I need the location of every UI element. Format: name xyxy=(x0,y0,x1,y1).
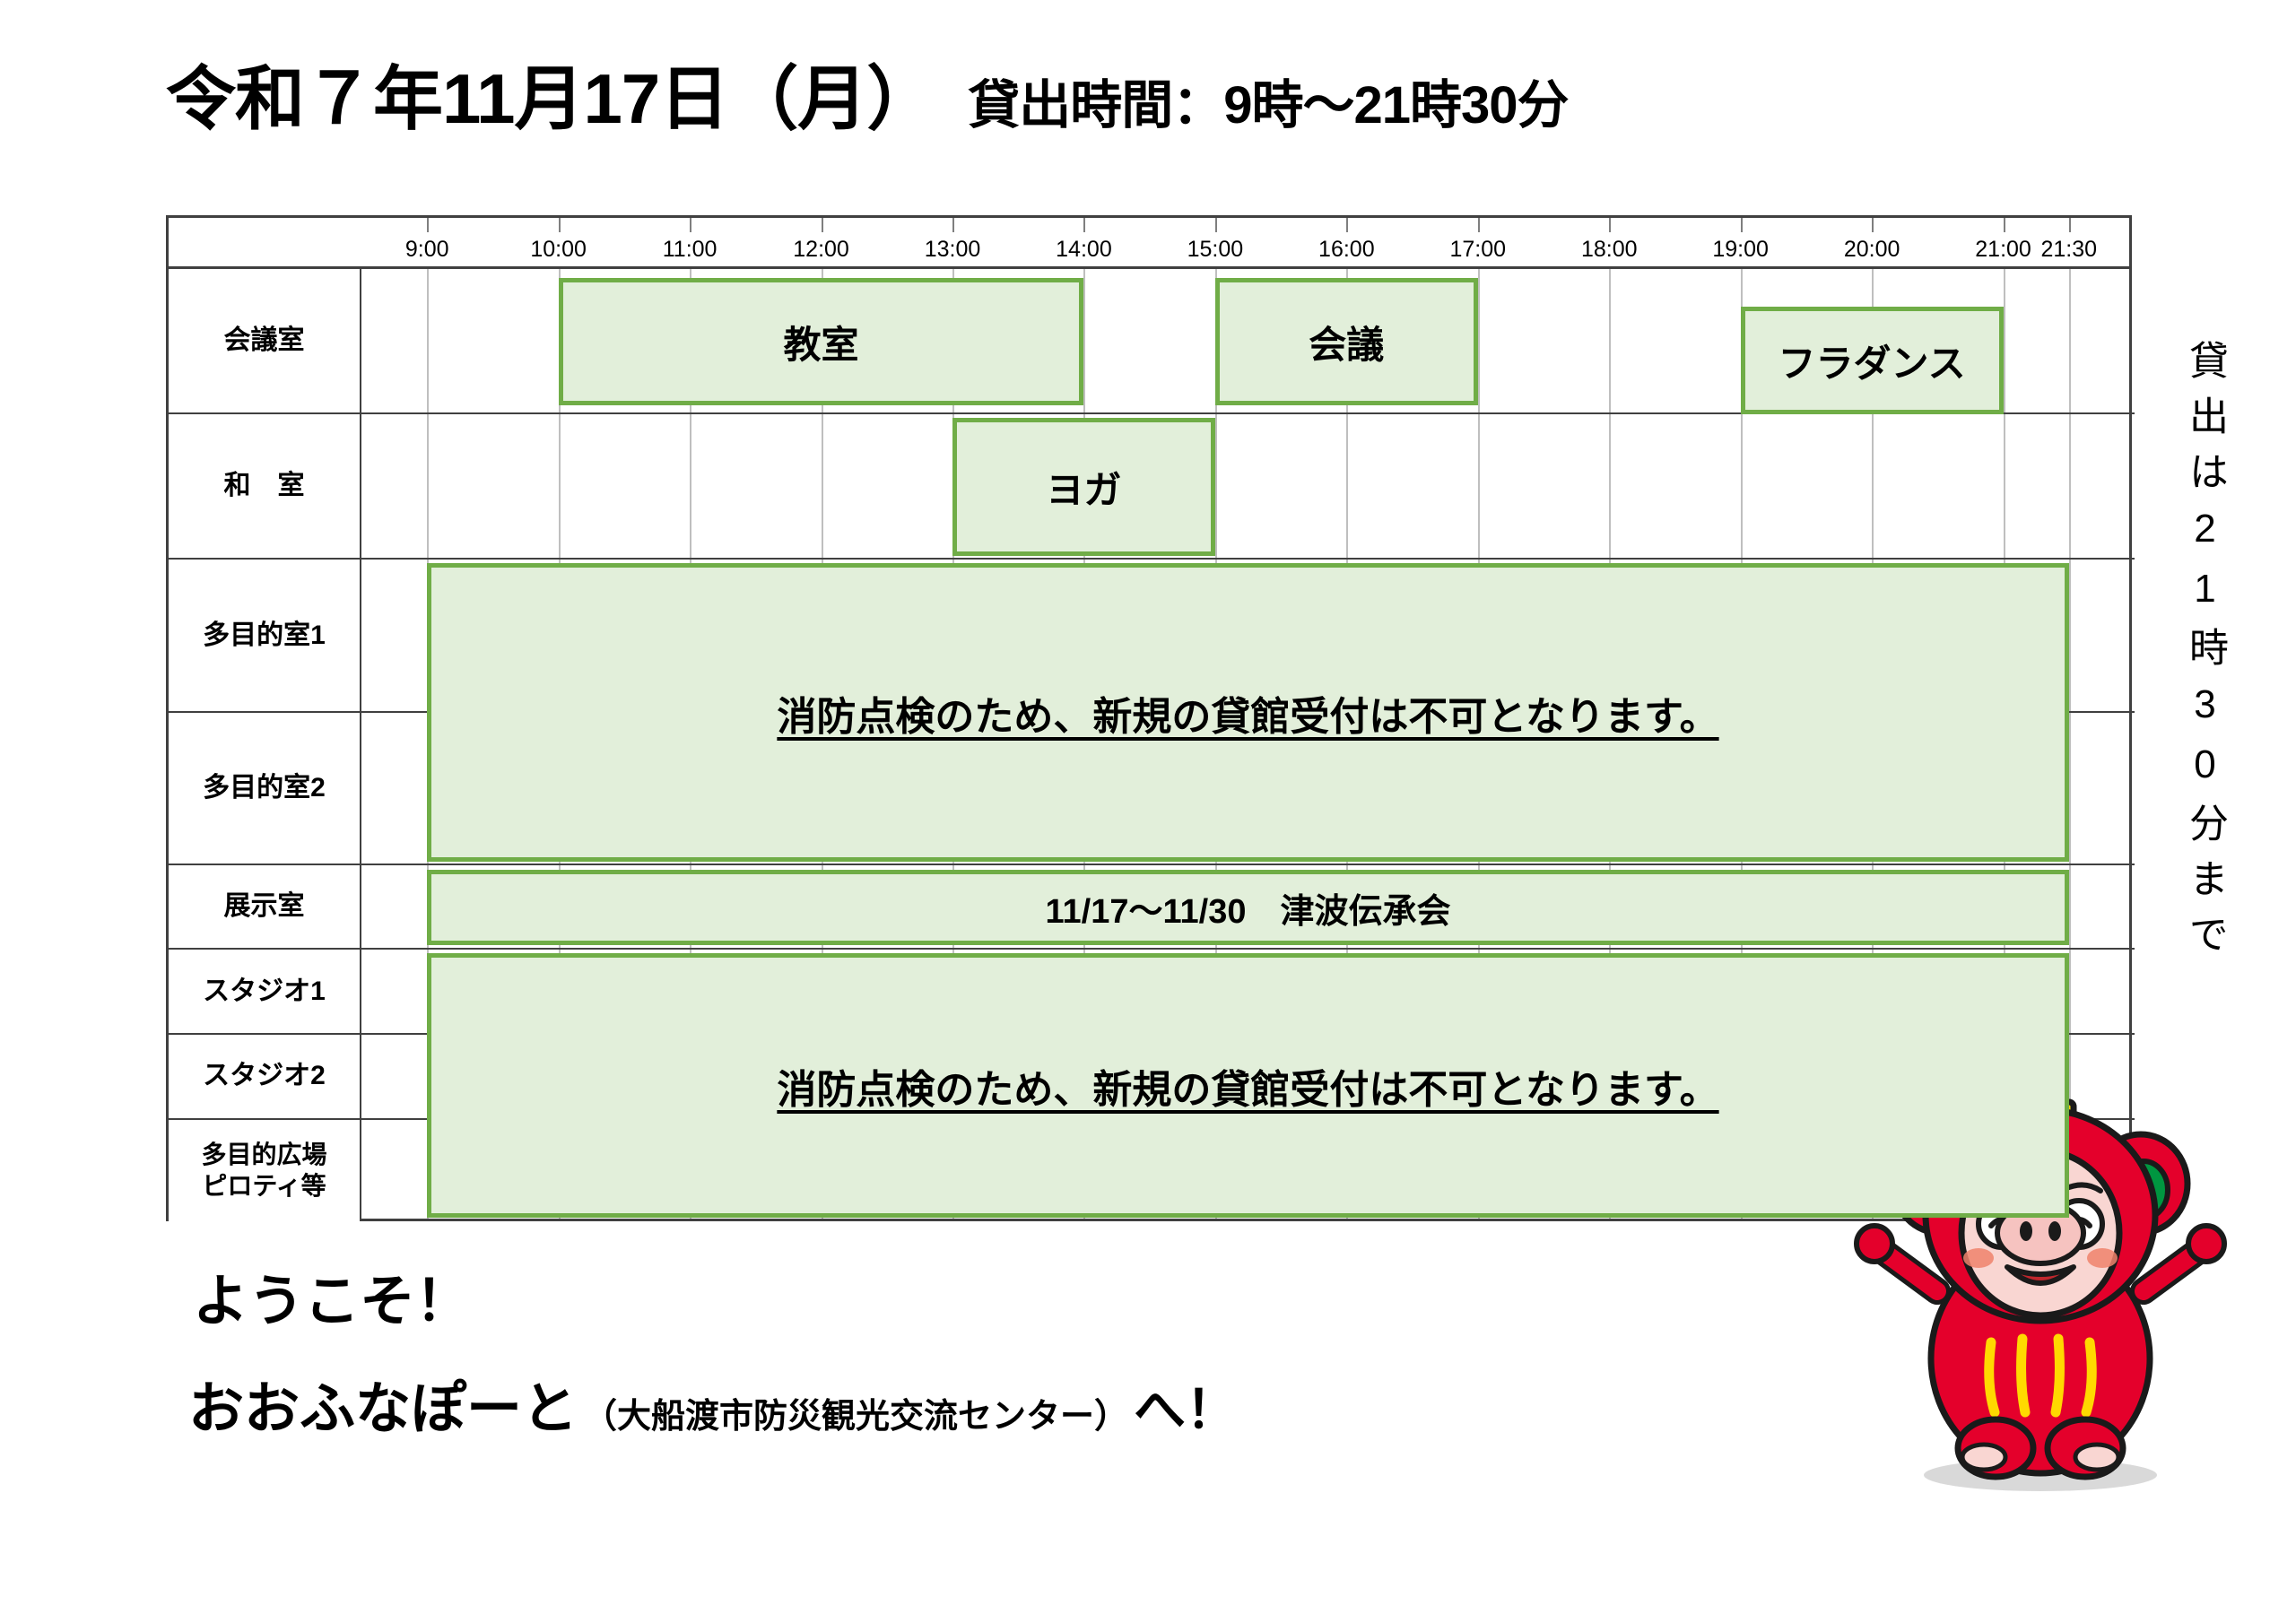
time-tick xyxy=(822,218,823,232)
time-tick xyxy=(559,218,561,232)
notice-block-multipurpose[interactable]: 消防点検のため、新規の貸館受付は不可となります。 xyxy=(427,563,2069,861)
time-tick xyxy=(1215,218,1217,232)
booking-label: 11/17～11/30 津波伝承会 xyxy=(1045,883,1450,933)
room-label-meeting-room: 会議室 xyxy=(169,269,361,412)
room-label-studio-1: スタジオ1 xyxy=(169,950,361,1033)
time-axis-label: 16:00 xyxy=(1318,237,1375,263)
notice-block-studio[interactable]: 消防点検のため、新規の貸館受付は不可となります。 xyxy=(427,953,2069,1218)
time-axis-label: 10:00 xyxy=(530,237,587,263)
schedule-board: 令和７年11月17日（月） 貸出時間：9時～21時30分 9:0010:0011… xyxy=(0,0,2296,1623)
room-label-studio-2: スタジオ2 xyxy=(169,1035,361,1118)
page-title: 令和７年11月17日（月） 貸出時間：9時～21時30分 xyxy=(166,43,1569,143)
welcome-suffix: へ！ xyxy=(1134,1367,1238,1443)
room-label-multipurpose-1: 多目的室1 xyxy=(169,560,361,710)
booking-yoga[interactable]: ヨガ xyxy=(952,418,1215,556)
booking-hula-dance[interactable]: フラダンス xyxy=(1741,307,2004,414)
booking-label: 会議 xyxy=(1309,315,1384,369)
time-tick xyxy=(1083,218,1085,232)
time-axis-header: 9:0010:0011:0012:0013:0014:0015:0016:001… xyxy=(166,215,2132,269)
booking-tsunami-exhibition[interactable]: 11/17～11/30 津波伝承会 xyxy=(427,870,2069,946)
time-axis-label: 14:00 xyxy=(1056,237,1112,263)
booking-label: ヨガ xyxy=(1046,460,1121,515)
time-tick xyxy=(1609,218,1611,232)
schedule-grid: 会議室和 室多目的室1多目的室2展示室スタジオ1スタジオ2多目的広場ピロティ等教… xyxy=(166,269,2132,1221)
booking-label: 教室 xyxy=(784,315,859,369)
time-tick xyxy=(1346,218,1348,232)
room-label-japanese-room: 和 室 xyxy=(169,414,361,558)
time-axis-label: 9:00 xyxy=(405,237,449,263)
time-tick xyxy=(2004,218,2005,232)
room-label-exhibition-room: 展示室 xyxy=(169,865,361,949)
time-axis-label: 18:00 xyxy=(1581,237,1638,263)
welcome-line-1: ようこそ！ xyxy=(193,1255,471,1336)
time-axis-label: 13:00 xyxy=(925,237,981,263)
room-label-multipurpose-2: 多目的室2 xyxy=(169,713,361,864)
time-axis-label: 11:00 xyxy=(663,237,717,263)
time-axis-label: 20:00 xyxy=(1844,237,1900,263)
room-label-multipurpose-plaza: 多目的広場ピロティ等 xyxy=(169,1120,361,1221)
time-tick xyxy=(1872,218,1874,232)
time-axis-label: 17:00 xyxy=(1449,237,1506,263)
time-tick xyxy=(1478,218,1480,232)
time-axis-label: 12:00 xyxy=(793,237,849,263)
time-tick xyxy=(952,218,954,232)
time-axis-label: 19:00 xyxy=(1712,237,1769,263)
welcome-line-2: おおふなぽーと （大船渡市防災観光交流センター） へ！ xyxy=(188,1363,1238,1444)
booking-label: 消防点検のため、新規の貸館受付は不可となります。 xyxy=(777,1057,1718,1115)
booking-kaigi[interactable]: 会議 xyxy=(1215,278,1478,405)
booking-label: 消防点検のため、新規の貸館受付は不可となります。 xyxy=(777,684,1718,742)
date-title: 令和７年11月17日（月） xyxy=(166,43,935,143)
time-tick xyxy=(2069,218,2071,232)
facility-name-official: （大船渡市防災観光交流センター） xyxy=(583,1388,1128,1437)
facility-name-kana: おおふなぽーと xyxy=(188,1363,578,1444)
time-tick xyxy=(1741,218,1743,232)
time-axis-label: 15:00 xyxy=(1187,237,1244,263)
schedule-table: 9:0010:0011:0012:0013:0014:0015:0016:001… xyxy=(166,215,2132,1221)
booking-label: フラダンス xyxy=(1779,334,1966,388)
time-tick xyxy=(427,218,429,232)
time-axis-label: 21:30 xyxy=(2040,237,2097,263)
time-axis-label: 21:00 xyxy=(1975,237,2031,263)
time-tick xyxy=(690,218,691,232)
booking-kyoshitsu[interactable]: 教室 xyxy=(559,278,1084,405)
lending-until-note: 貸出は21時30分まで xyxy=(2152,269,2233,1040)
hours-title: 貸出時間：9時～21時30分 xyxy=(968,63,1568,138)
